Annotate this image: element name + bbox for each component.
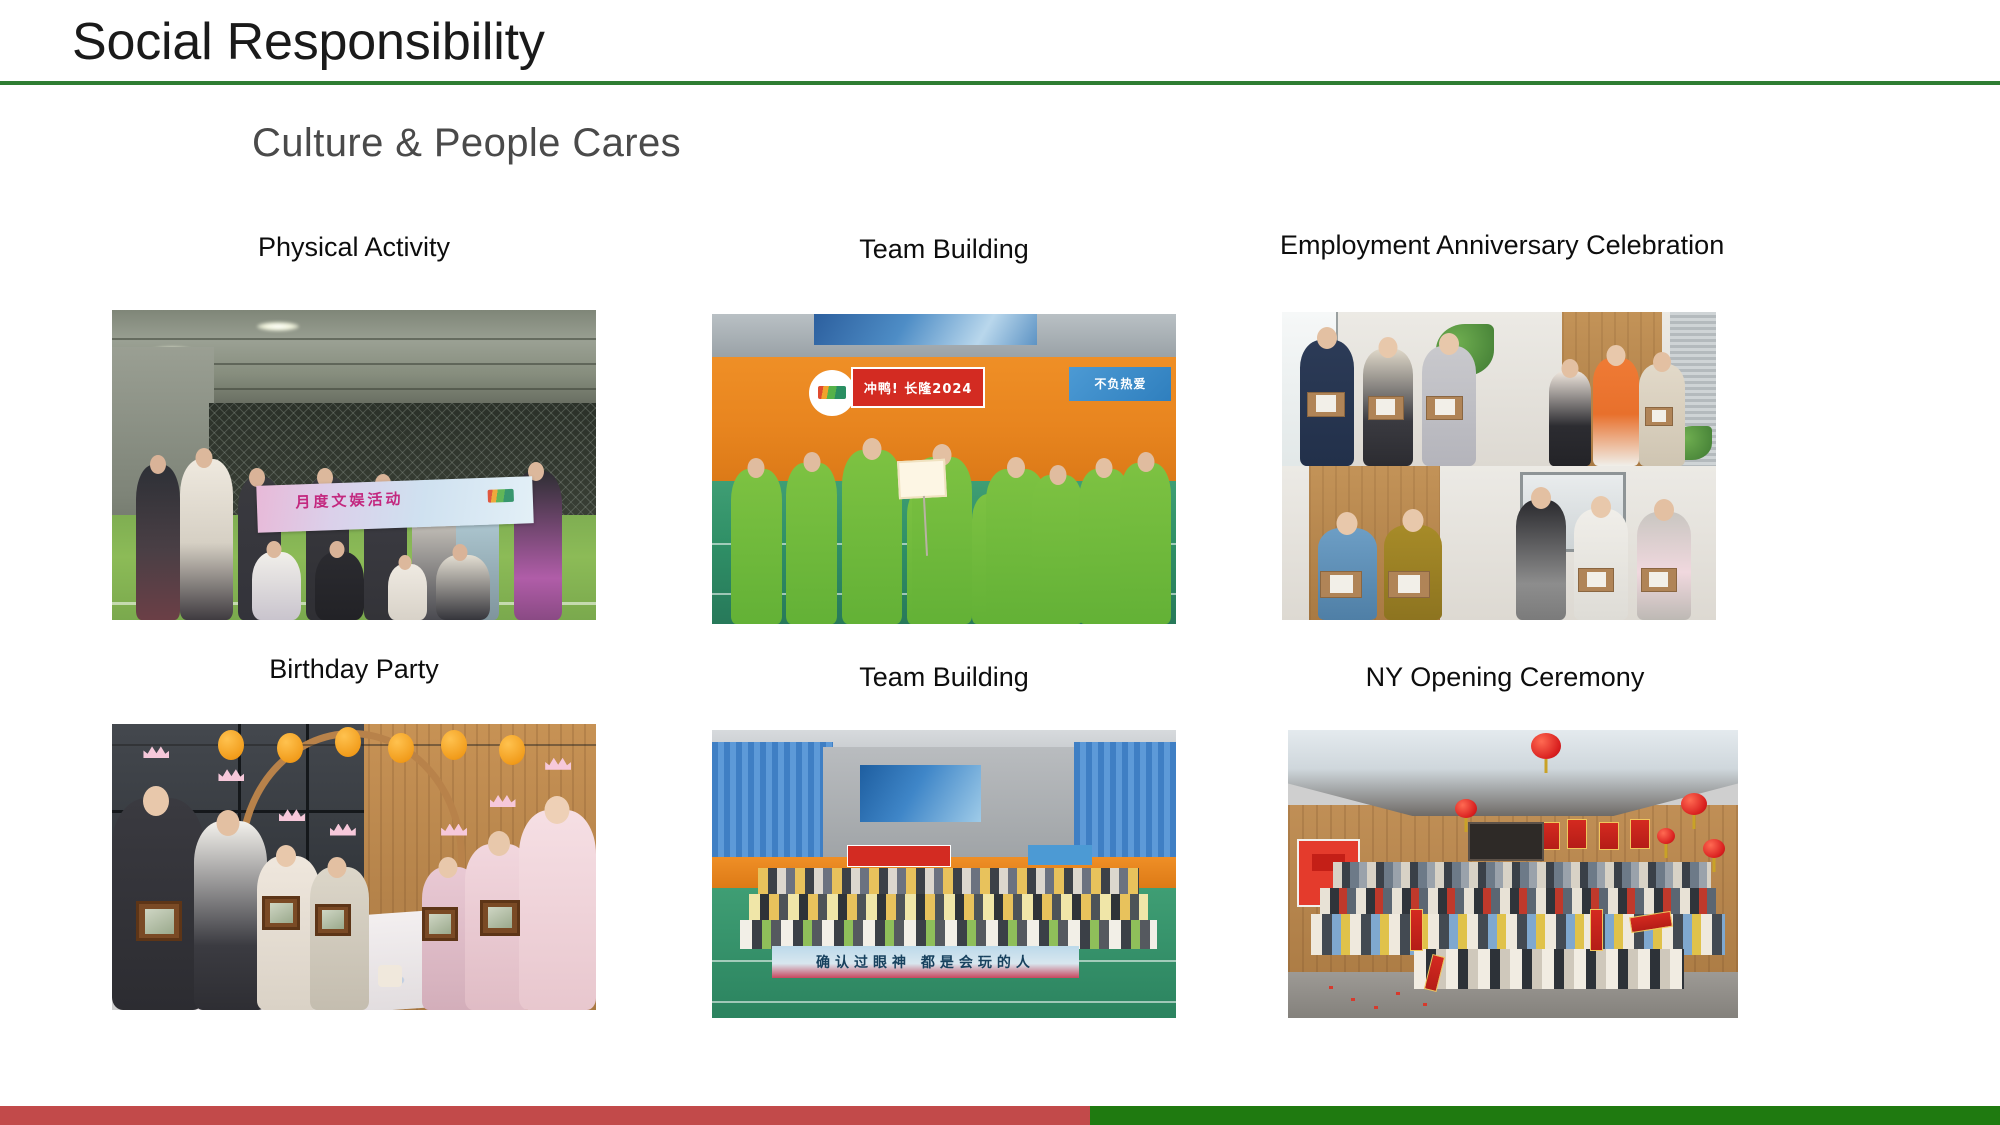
gallery-caption: Team Building bbox=[712, 660, 1176, 694]
footer-bar-red-segment bbox=[0, 1106, 1090, 1125]
gallery-cell-employment-anniversary: Employment Anniversary Celebration bbox=[1280, 228, 1722, 628]
gallery-caption: Team Building bbox=[712, 232, 1176, 266]
gallery-cell-ny-opening-ceremony: NY Opening Ceremony bbox=[1280, 660, 1730, 1060]
photo-team-building-hall: 确认过眼神 都是会玩的人 bbox=[712, 730, 1176, 1018]
team-banner: 确认过眼神 都是会玩的人 bbox=[772, 946, 1078, 978]
gallery-caption: Employment Anniversary Celebration bbox=[1280, 228, 1722, 262]
event-sign-blue-text: 不负热爱 bbox=[1069, 367, 1171, 401]
collage-panel-1 bbox=[1282, 312, 1508, 466]
photo-banner-text: 月度文娱活动 bbox=[295, 487, 404, 512]
evergreen-logo-icon bbox=[487, 488, 513, 502]
photo-anniversary-collage bbox=[1282, 312, 1716, 620]
gallery-cell-birthday-party: Birthday Party bbox=[112, 652, 596, 1052]
team-banner-text: 确认过眼神 都是会玩的人 bbox=[772, 946, 1078, 978]
event-sign-blue: 不负热爱 bbox=[1069, 367, 1171, 401]
photo-team-building-gym: 冲鸭! 长隆2024 不负热爱 bbox=[712, 314, 1176, 624]
gallery-caption: Physical Activity bbox=[112, 230, 596, 264]
collage-panel-3 bbox=[1282, 466, 1508, 620]
gallery-cell-team-building-bottom: Team Building 确认过眼神 都是会玩的人 bbox=[712, 660, 1176, 1060]
gallery-cell-physical-activity: Physical Activity bbox=[112, 230, 596, 630]
gallery-cell-team-building-top: Team Building 冲鸭! 长隆2024 不负热爱 bbox=[712, 232, 1176, 632]
photo-gallery: Physical Activity bbox=[0, 0, 2000, 1125]
event-sign-red-text: 冲鸭! 长隆2024 bbox=[853, 369, 983, 406]
footer-bar bbox=[0, 1106, 2000, 1125]
team-flag bbox=[897, 458, 947, 498]
gallery-caption: Birthday Party bbox=[112, 652, 596, 686]
event-sign-red: 冲鸭! 长隆2024 bbox=[851, 367, 985, 408]
collage-panel-2 bbox=[1508, 312, 1716, 466]
collage-panel-4 bbox=[1508, 466, 1716, 620]
photo-ny-opening-ceremony bbox=[1288, 730, 1738, 1018]
footer-bar-green-segment bbox=[1090, 1106, 2000, 1125]
photo-birthday-party bbox=[112, 724, 596, 1010]
evergreen-logo-icon bbox=[809, 370, 855, 416]
gallery-caption: NY Opening Ceremony bbox=[1280, 660, 1730, 694]
photo-physical-activity: 月度文娱活动 bbox=[112, 310, 596, 620]
